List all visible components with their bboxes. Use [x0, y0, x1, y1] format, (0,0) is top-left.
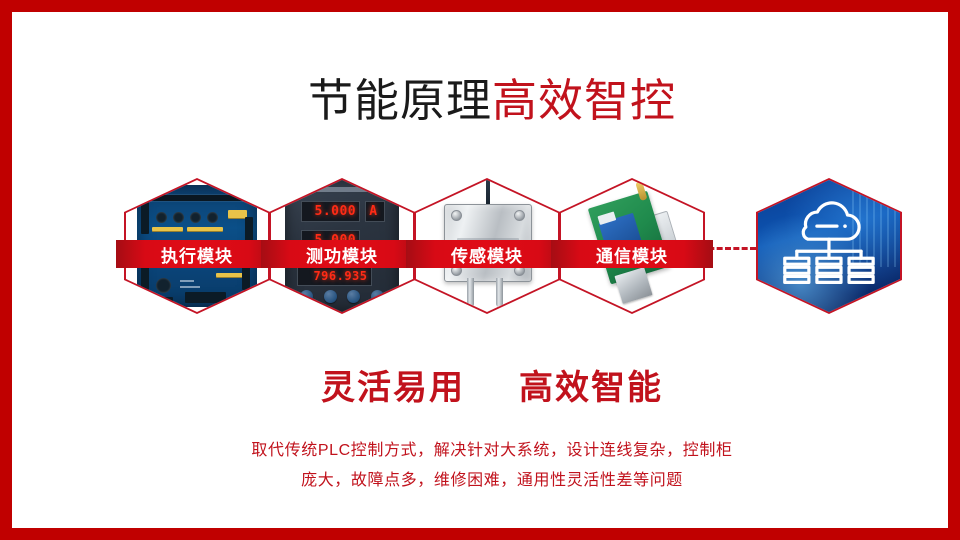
module-banner-communication: 通信模块 — [551, 240, 713, 268]
hex-image-clip — [758, 180, 900, 312]
meter-readout-3: 796.935 — [297, 267, 372, 285]
meter-unit-a: A — [365, 201, 385, 222]
module-hex-communication[interactable]: 通信模块 — [559, 178, 705, 314]
page-title-primary: 节能原理 — [308, 75, 492, 126]
module-hex-cloud[interactable] — [756, 178, 902, 314]
body-copy-line-1: 取代传统PLC控制方式，解决针对大系统，设计连线复杂，控制柜 — [12, 436, 960, 466]
meter-button[interactable] — [347, 290, 360, 303]
module-flow-row: 执行模块 5.000 A 5.000 796.935 — [12, 172, 960, 322]
module-hex-dynamometer[interactable]: 5.000 A 5.000 796.935 测功模块 — [269, 178, 415, 314]
cloud-network-icon — [758, 180, 900, 312]
slogan-right: 高效智能 — [519, 369, 663, 407]
meter-button-row[interactable] — [294, 286, 389, 307]
module-banner-dynamometer: 测功模块 — [261, 240, 423, 268]
body-copy: 取代传统PLC控制方式，解决针对大系统，设计连线复杂，控制柜 庞大，故障点多，维… — [12, 436, 960, 496]
meter-readout-1: 5.000 — [301, 201, 360, 222]
module-label: 执行模块 — [161, 242, 233, 267]
slide-root: 节能原理高效智控 — [0, 0, 960, 540]
module-label: 通信模块 — [596, 242, 668, 267]
slogan-left: 灵活易用 — [321, 369, 465, 407]
module-hex-executor[interactable]: 执行模块 — [124, 178, 270, 314]
module-label: 传感模块 — [451, 242, 523, 267]
module-banner-executor: 执行模块 — [116, 240, 278, 268]
slogan-row: 灵活易用高效智能 — [12, 360, 960, 409]
body-copy-line-2: 庞大，故障点多，维修困难，通用性灵活性差等问题 — [12, 466, 960, 496]
module-hex-sensor[interactable]: 传感模块 — [414, 178, 560, 314]
meter-button[interactable] — [324, 290, 337, 303]
module-banner-sensor: 传感模块 — [406, 240, 568, 268]
page-title: 节能原理高效智控 — [12, 78, 960, 123]
module-label: 测功模块 — [306, 242, 378, 267]
page-title-accent: 高效智控 — [492, 75, 676, 126]
